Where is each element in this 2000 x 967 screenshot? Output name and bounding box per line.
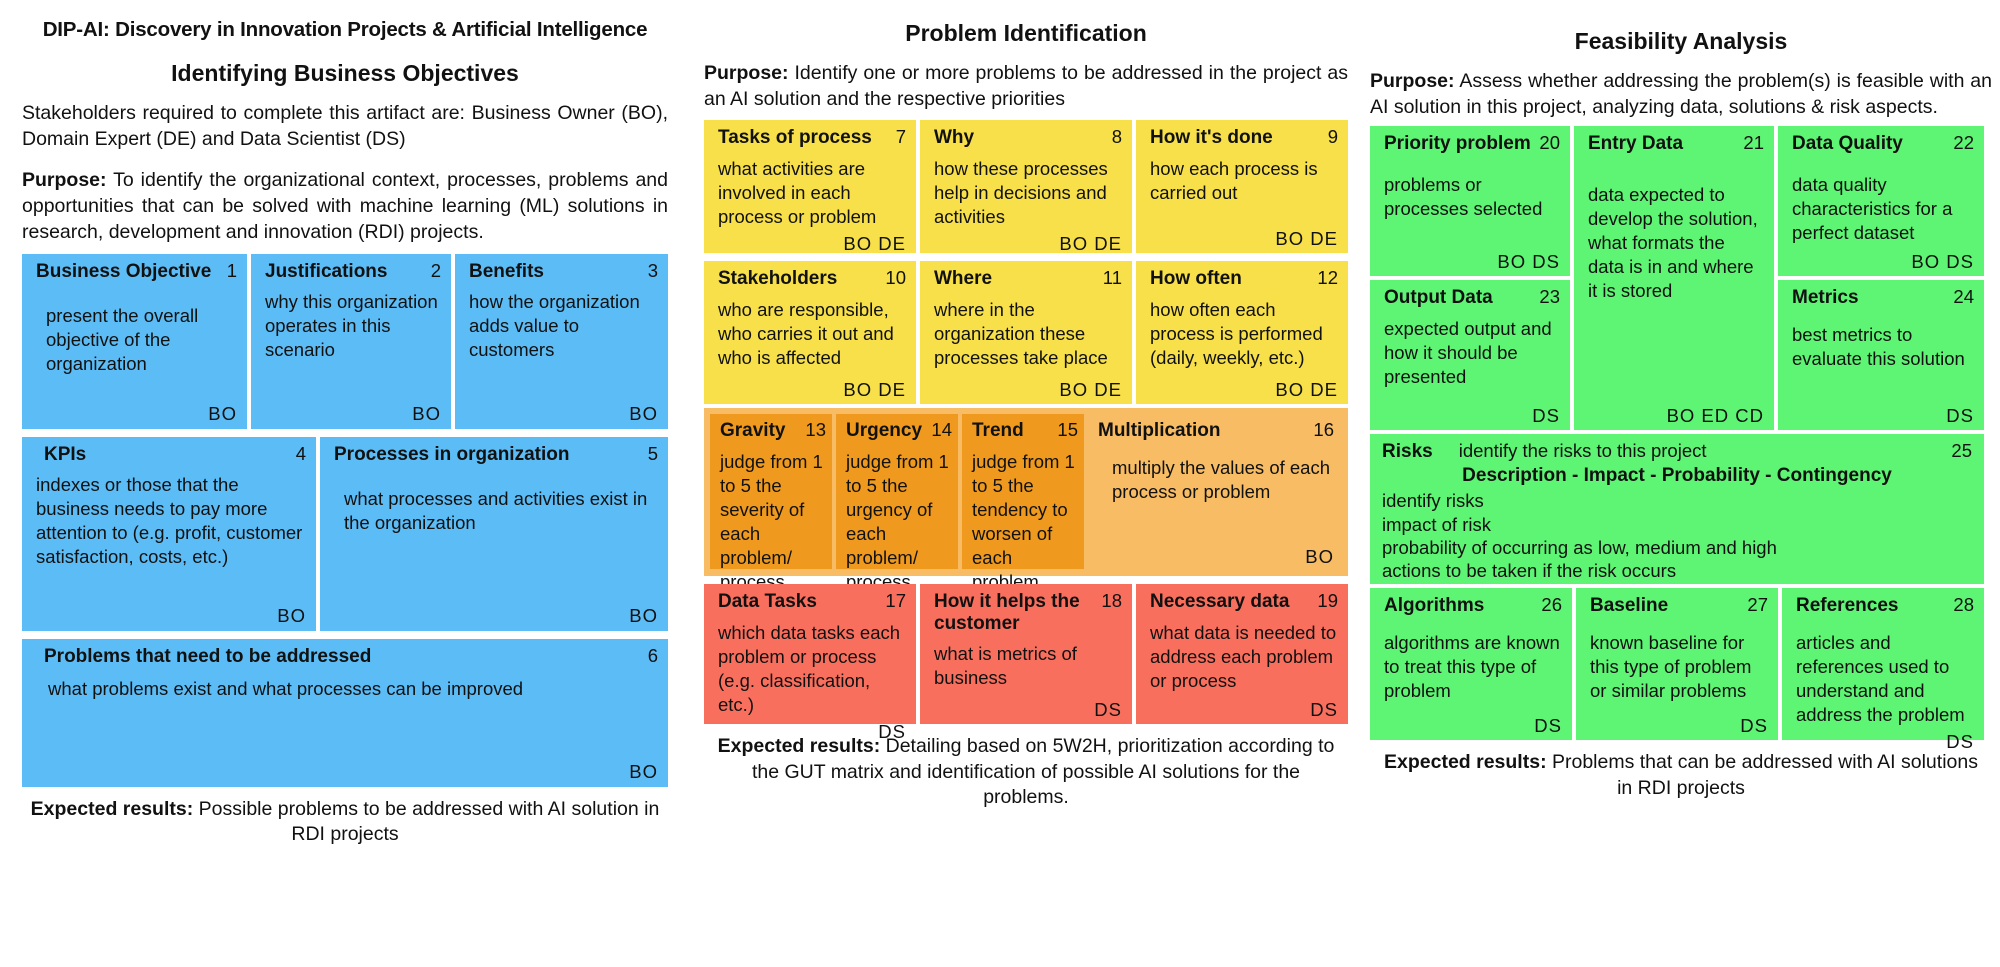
card-header: Benefits 3	[469, 261, 658, 282]
mid-card-row-1: Tasks of process 7 what activities are i…	[704, 120, 1348, 253]
card-kpis[interactable]: KPIs 4 indexes or those that the busines…	[22, 437, 316, 631]
expected-results-left: Expected results: Possible problems to b…	[22, 797, 668, 848]
card-body: who are responsible, who carries it out …	[718, 298, 906, 375]
card-header: Multiplication 16	[1098, 420, 1334, 441]
card-roles: DS	[1792, 405, 1974, 426]
left-card-row-2: KPIs 4 indexes or those that the busines…	[22, 437, 668, 631]
card-header: Metrics 24	[1792, 287, 1974, 308]
card-title: Why	[934, 127, 1112, 148]
card-header: Necessary data 19	[1150, 591, 1338, 612]
card-number: 26	[1541, 595, 1562, 616]
card-number: 8	[1112, 127, 1122, 148]
card-number: 11	[1103, 268, 1122, 289]
card-number: 20	[1539, 133, 1560, 154]
card-header: How it's done 9	[1150, 127, 1338, 148]
card-title: Stakeholders	[718, 268, 885, 289]
card-why[interactable]: Why 8 how these processes help in decisi…	[920, 120, 1132, 253]
card-title: Tasks of process	[718, 127, 896, 148]
purpose-text-left: To identify the organizational context, …	[22, 169, 668, 242]
card-roles: BO	[36, 605, 306, 626]
right-card-row-3: Algorithms 26 algorithms are known to tr…	[1370, 588, 1992, 740]
card-algorithms[interactable]: Algorithms 26 algorithms are known to tr…	[1370, 588, 1572, 740]
card-roles: BO ED CD	[1588, 405, 1764, 426]
panel-title-mid: Problem Identification	[704, 20, 1348, 47]
card-title: Urgency	[846, 420, 931, 441]
card-roles: DS	[718, 721, 906, 742]
card-body: algorithms are known to treat this type …	[1384, 631, 1562, 711]
card-entry-data[interactable]: Entry Data 21 data expected to develop t…	[1574, 126, 1774, 430]
card-roles: DS	[1150, 699, 1338, 720]
card-number: 4	[296, 444, 306, 465]
card-how-it-helps-the-customer[interactable]: How it helps the customer 18 what is met…	[920, 584, 1132, 724]
card-number: 24	[1953, 287, 1974, 308]
card-body: what data is needed to address each prob…	[1150, 621, 1338, 695]
card-title: Benefits	[469, 261, 648, 282]
card-number: 25	[1951, 440, 1972, 462]
card-baseline[interactable]: Baseline 27 known baseline for this type…	[1576, 588, 1778, 740]
card-problems-to-address[interactable]: Problems that need to be addressed 6 wha…	[22, 639, 668, 787]
card-body: present the overall objective of the org…	[36, 304, 237, 399]
card-header: Tasks of process 7	[718, 127, 906, 148]
card-roles: BO	[1098, 546, 1334, 567]
purpose-label-right: Purpose:	[1370, 70, 1455, 92]
card-data-quality[interactable]: Data Quality 22 data quality characteris…	[1778, 126, 1984, 276]
card-title: Priority problem	[1384, 133, 1539, 154]
card-header: How it helps the customer 18	[934, 591, 1122, 634]
card-gravity[interactable]: Gravity 13 judge from 1 to 5 the severit…	[710, 414, 832, 569]
card-title: Trend	[972, 420, 1057, 441]
card-number: 18	[1101, 591, 1122, 612]
card-number: 5	[648, 444, 658, 465]
card-roles: DS	[1590, 715, 1768, 736]
right-grid-column-2: Entry Data 21 data expected to develop t…	[1574, 126, 1774, 430]
card-number: 23	[1539, 287, 1560, 308]
expected-results-right: Expected results: Problems that can be a…	[1370, 750, 1992, 801]
risks-headline: Description - Impact - Probability - Con…	[1382, 465, 1972, 487]
purpose-text-mid: Identify one or more problems to be addr…	[704, 62, 1348, 110]
card-title: Where	[934, 268, 1103, 289]
card-title: Business Objective	[36, 261, 227, 282]
card-body: indexes or those that the business needs…	[36, 473, 306, 601]
card-header: Stakeholders 10	[718, 268, 906, 289]
card-processes-in-organization[interactable]: Processes in organization 5 what process…	[320, 437, 668, 631]
right-card-grid: Priority problem 20 problems or processe…	[1370, 126, 1992, 430]
card-number: 10	[885, 268, 906, 289]
card-body: how often each process is performed (dai…	[1150, 298, 1338, 375]
mid-card-row-2: Stakeholders 10 who are responsible, who…	[704, 261, 1348, 404]
card-number: 13	[805, 420, 826, 441]
risks-subtitle: identify the risks to this project	[1459, 440, 1707, 462]
card-justifications[interactable]: Justifications 2 why this organization o…	[251, 254, 451, 429]
card-roles: DS	[1384, 405, 1560, 426]
expected-results-text: Problems that can be addressed with AI s…	[1547, 751, 1978, 798]
card-number: 1	[227, 261, 237, 282]
card-title: Data Quality	[1792, 133, 1953, 154]
dip-ai-canvas: DIP-AI: Discovery in Innovation Projects…	[0, 0, 2000, 967]
card-header: Business Objective 1	[36, 261, 237, 282]
card-body: judge from 1 to 5 the urgency of each pr…	[846, 450, 952, 594]
card-title: Justifications	[265, 261, 431, 282]
card-number: 14	[931, 420, 952, 441]
app-title: DIP-AI: Discovery in Innovation Projects…	[22, 18, 668, 42]
stakeholders-note-text: Stakeholders required to complete this a…	[22, 102, 668, 150]
card-body: expected output and how it should be pre…	[1384, 317, 1560, 401]
risks-body: identify risks impact of risk probabilit…	[1382, 489, 1972, 582]
card-header: How often 12	[1150, 268, 1338, 289]
card-how-its-done[interactable]: How it's done 9 how each process is carr…	[1136, 120, 1348, 253]
card-number: 15	[1057, 420, 1078, 441]
card-header: KPIs 4	[36, 444, 306, 465]
panel-title-right: Feasibility Analysis	[1370, 28, 1992, 55]
gut-matrix-group: Gravity 13 judge from 1 to 5 the severit…	[704, 408, 1348, 576]
purpose-mid: Purpose: Identify one or more problems t…	[704, 61, 1348, 112]
card-body: how these processes help in decisions an…	[934, 157, 1122, 229]
card-number: 19	[1317, 591, 1338, 612]
card-title: Gravity	[720, 420, 805, 441]
card-risks[interactable]: Risks identify the risks to this project…	[1370, 434, 1984, 584]
panel-business-objectives: DIP-AI: Discovery in Innovation Projects…	[0, 0, 690, 967]
card-roles: DS	[1384, 715, 1562, 736]
card-title: References	[1796, 595, 1953, 616]
card-tasks-of-process[interactable]: Tasks of process 7 what activities are i…	[704, 120, 916, 253]
card-title: Necessary data	[1150, 591, 1317, 612]
card-priority-problem[interactable]: Priority problem 20 problems or processe…	[1370, 126, 1570, 276]
card-body: data quality characteristics for a perfe…	[1792, 173, 1974, 247]
card-body: known baseline for this type of problem …	[1590, 631, 1768, 711]
card-roles: BO	[36, 761, 658, 782]
card-where[interactable]: Where 11 where in the organization these…	[920, 261, 1132, 404]
card-multiplication[interactable]: Multiplication 16 multiply the values of…	[1088, 414, 1342, 569]
card-number: 16	[1313, 420, 1334, 441]
card-title: How often	[1150, 268, 1317, 289]
card-number: 28	[1953, 595, 1974, 616]
left-card-row-1: Business Objective 1 present the overall…	[22, 254, 668, 429]
card-header: Baseline 27	[1590, 595, 1768, 616]
card-header: Priority problem 20	[1384, 133, 1560, 154]
card-title: Algorithms	[1384, 595, 1541, 616]
card-body: multiply the values of each process or p…	[1098, 456, 1334, 542]
card-benefits[interactable]: Benefits 3 how the organization adds val…	[455, 254, 668, 429]
card-how-often[interactable]: How often 12 how often each process is p…	[1136, 261, 1348, 404]
card-urgency[interactable]: Urgency 14 judge from 1 to 5 the urgency…	[836, 414, 958, 569]
card-body: best metrics to evaluate this solution	[1792, 323, 1974, 401]
panel-title-left: Identifying Business Objectives	[22, 60, 668, 87]
card-metrics[interactable]: Metrics 24 best metrics to evaluate this…	[1778, 280, 1984, 430]
card-body: judge from 1 to 5 the severity of each p…	[720, 450, 826, 594]
card-title: Processes in organization	[334, 444, 648, 465]
card-roles: BO DE	[718, 233, 906, 254]
mid-card-row-4: Data Tasks 17 which data tasks each prob…	[704, 584, 1348, 724]
card-number: 3	[648, 261, 658, 282]
panel-feasibility-analysis: Feasibility Analysis Purpose: Assess whe…	[1362, 0, 2000, 967]
card-number: 12	[1317, 268, 1338, 289]
card-number: 21	[1743, 133, 1764, 154]
card-number: 9	[1328, 127, 1338, 148]
card-title: Metrics	[1792, 287, 1953, 308]
purpose-text-right: Assess whether addressing the problem(s)…	[1370, 70, 1992, 118]
stakeholders-note: Stakeholders required to complete this a…	[22, 101, 668, 152]
card-roles: BO DE	[1150, 228, 1338, 249]
card-title: Problems that need to be addressed	[36, 646, 648, 667]
expected-results-mid: Expected results: Detailing based on 5W2…	[704, 734, 1348, 810]
panel-problem-identification: Problem Identification Purpose: Identify…	[690, 0, 1362, 967]
card-header: Processes in organization 5	[334, 444, 658, 465]
card-roles: BO DE	[718, 379, 906, 400]
card-title: KPIs	[36, 444, 296, 465]
card-header: Why 8	[934, 127, 1122, 148]
purpose-right: Purpose: Assess whether addressing the p…	[1370, 69, 1992, 120]
card-title: Data Tasks	[718, 591, 885, 612]
card-body: why this organization operates in this s…	[265, 290, 441, 399]
card-body: judge from 1 to 5 the tendency to worsen…	[972, 450, 1078, 594]
card-number: 22	[1953, 133, 1974, 154]
card-roles: BO DS	[1384, 251, 1560, 272]
card-roles: DS	[1796, 731, 1974, 752]
card-data-tasks[interactable]: Data Tasks 17 which data tasks each prob…	[704, 584, 916, 724]
card-title: How it helps the customer	[934, 591, 1101, 634]
card-roles: BO	[469, 403, 658, 424]
expected-results-text: Possible problems to be addressed with A…	[193, 798, 659, 845]
card-number: 7	[896, 127, 906, 148]
card-body: which data tasks each problem or process…	[718, 621, 906, 717]
card-roles: BO	[265, 403, 441, 424]
card-body: problems or processes selected	[1384, 173, 1560, 247]
right-grid-column-1: Priority problem 20 problems or processe…	[1370, 126, 1570, 430]
card-roles: DS	[934, 699, 1122, 720]
card-header: Justifications 2	[265, 261, 441, 282]
card-roles: BO DE	[1150, 379, 1338, 400]
card-number: 17	[885, 591, 906, 612]
card-roles: BO DE	[934, 233, 1122, 254]
card-number: 2	[431, 261, 441, 282]
card-roles: BO	[36, 403, 237, 424]
card-header: Urgency 14	[846, 420, 952, 441]
card-references[interactable]: References 28 articles and references us…	[1782, 588, 1984, 740]
purpose-left: Purpose: To identify the organizational …	[22, 168, 668, 245]
left-card-row-3: Problems that need to be addressed 6 wha…	[22, 639, 668, 787]
card-header: Problems that need to be addressed 6	[36, 646, 658, 667]
card-body: how each process is carried out	[1150, 157, 1338, 224]
expected-results-label: Expected results:	[31, 798, 194, 820]
card-header: References 28	[1796, 595, 1974, 616]
card-header: Entry Data 21	[1588, 133, 1764, 154]
card-title: Baseline	[1590, 595, 1747, 616]
risks-title: Risks	[1382, 441, 1433, 463]
card-header: Where 11	[934, 268, 1122, 289]
risks-header: Risks identify the risks to this project…	[1382, 440, 1972, 463]
card-header: Data Tasks 17	[718, 591, 906, 612]
card-header: Output Data 23	[1384, 287, 1560, 308]
card-header: Gravity 13	[720, 420, 826, 441]
expected-results-label: Expected results:	[1384, 751, 1547, 773]
card-business-objective[interactable]: Business Objective 1 present the overall…	[22, 254, 247, 429]
card-title: Output Data	[1384, 287, 1539, 308]
purpose-label-mid: Purpose:	[704, 62, 789, 84]
card-roles: BO	[334, 605, 658, 626]
card-body: data expected to develop the solution, w…	[1588, 183, 1764, 401]
card-output-data[interactable]: Output Data 23 expected output and how i…	[1370, 280, 1570, 430]
card-body: what is metrics of business	[934, 642, 1122, 695]
card-title: How it's done	[1150, 127, 1328, 148]
card-body: how the organization adds value to custo…	[469, 290, 658, 399]
card-header: Algorithms 26	[1384, 595, 1562, 616]
card-body: where in the organization these processe…	[934, 298, 1122, 375]
card-trend[interactable]: Trend 15 judge from 1 to 5 the tendency …	[962, 414, 1084, 569]
purpose-label-left: Purpose:	[22, 169, 107, 191]
card-necessary-data[interactable]: Necessary data 19 what data is needed to…	[1136, 584, 1348, 724]
right-grid-column-3: Data Quality 22 data quality characteris…	[1778, 126, 1984, 430]
card-body: what problems exist and what processes c…	[36, 677, 658, 757]
card-header: Data Quality 22	[1792, 133, 1974, 154]
card-body: what processes and activities exist in t…	[334, 487, 658, 601]
card-roles: BO DE	[934, 379, 1122, 400]
card-stakeholders[interactable]: Stakeholders 10 who are responsible, who…	[704, 261, 916, 404]
card-number: 27	[1747, 595, 1768, 616]
card-body: articles and references used to understa…	[1796, 631, 1974, 727]
card-title: Multiplication	[1098, 420, 1313, 441]
card-header: Trend 15	[972, 420, 1078, 441]
card-title: Entry Data	[1588, 133, 1743, 154]
card-number: 6	[648, 646, 658, 667]
card-roles: BO DS	[1792, 251, 1974, 272]
card-body: what activities are involved in each pro…	[718, 157, 906, 229]
